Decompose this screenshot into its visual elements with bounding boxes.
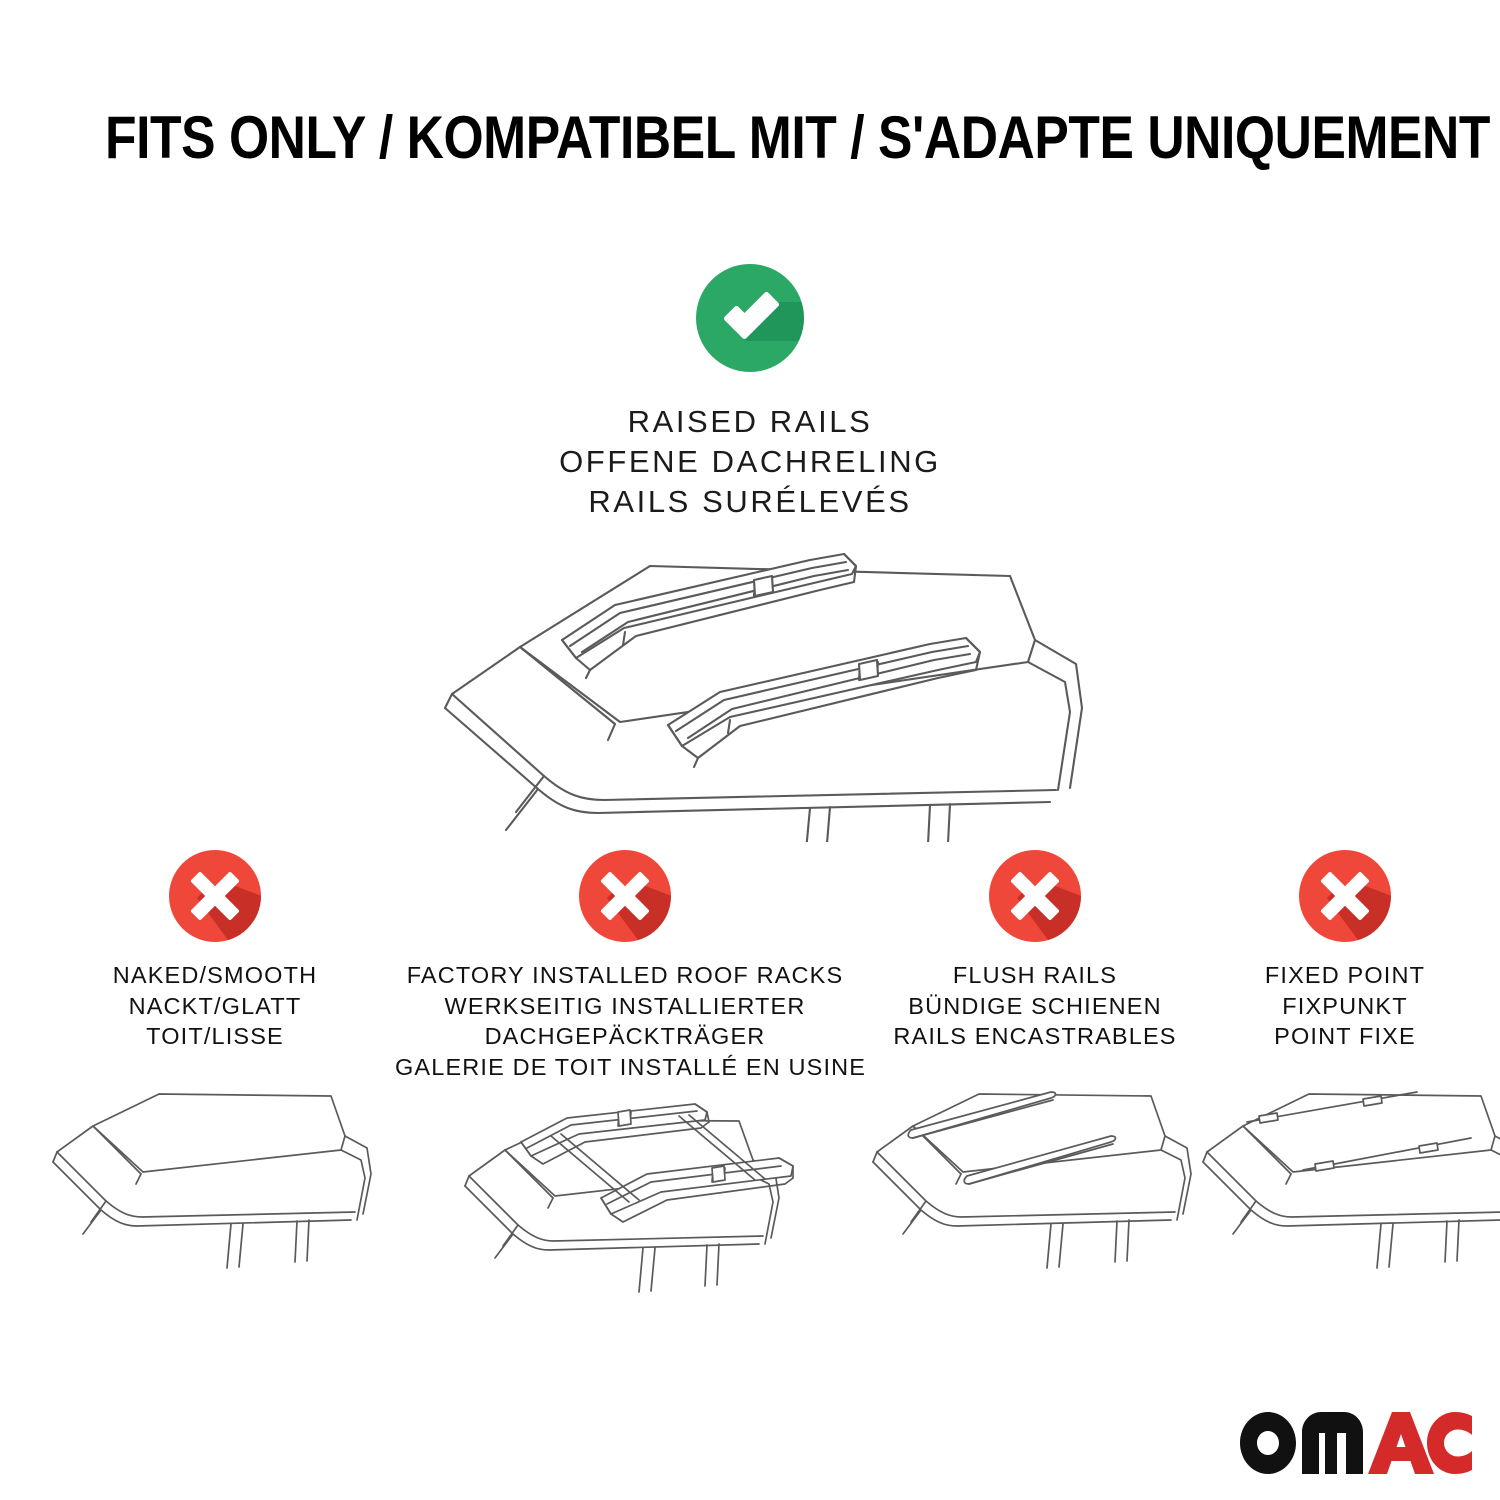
label-de1-2: WERKSEITIG INSTALLIERTER xyxy=(395,991,855,1022)
cross-circle-icon-holder-3 xyxy=(987,848,1083,944)
label-de-1: NACKT/GLATT xyxy=(35,991,395,1022)
label-fr-3: RAILS ENCASTRABLES xyxy=(855,1021,1215,1052)
check-circle-icon-holder xyxy=(694,262,806,374)
car-roof-fixed-point-illustration xyxy=(1185,1068,1500,1278)
logo-letter-m xyxy=(1302,1412,1363,1474)
label-fr-4: POINT FIXE xyxy=(1215,1021,1475,1052)
cross-circle-icon xyxy=(167,848,263,944)
column-labels-2: FACTORY INSTALLED ROOF RACKS WERKSEITIG … xyxy=(395,960,855,1082)
incompatible-column-fixed-point: FIXED POINT FIXPUNKT POINT FIXE xyxy=(1215,848,1475,1283)
label-en-3: FLUSH RAILS xyxy=(855,960,1215,991)
cross-circle-icon-holder-1 xyxy=(167,848,263,944)
car-roof-naked-smooth-illustration xyxy=(35,1068,395,1278)
incompatible-column-naked-smooth: NAKED/SMOOTH NACKT/GLATT TOIT/LISSE xyxy=(35,848,395,1283)
car-roof-flush-rails-illustration xyxy=(855,1068,1215,1278)
label-de2-2: DACHGEPÄCKTRÄGER xyxy=(395,1021,855,1052)
logo-letter-c xyxy=(1427,1412,1472,1474)
compatible-labels: RAISED RAILS OFFENE DACHRELING RAILS SUR… xyxy=(0,402,1500,522)
compatible-section: RAISED RAILS OFFENE DACHRELING RAILS SUR… xyxy=(0,262,1500,522)
column-labels-1: NAKED/SMOOTH NACKT/GLATT TOIT/LISSE xyxy=(35,960,395,1052)
fitment-guide-page: FITS ONLY / KOMPATIBEL MIT / S'ADAPTE UN… xyxy=(0,0,1500,1500)
omac-logo xyxy=(1240,1412,1472,1474)
label-en-1: NAKED/SMOOTH xyxy=(35,960,395,991)
page-title: FITS ONLY / KOMPATIBEL MIT / S'ADAPTE UN… xyxy=(105,108,1395,168)
cross-circle-icon xyxy=(577,848,673,944)
cross-circle-icon-holder-4 xyxy=(1297,848,1393,944)
logo-letter-a xyxy=(1368,1412,1434,1474)
cross-circle-icon xyxy=(1297,848,1393,944)
cross-circle-icon xyxy=(987,848,1083,944)
check-circle-icon xyxy=(694,262,806,374)
label-en-2: FACTORY INSTALLED ROOF RACKS xyxy=(395,960,855,991)
label-fr-1: TOIT/LISSE xyxy=(35,1021,395,1052)
compatible-label-de: OFFENE DACHRELING xyxy=(0,442,1500,482)
car-roof-raised-rails-illustration xyxy=(410,512,1090,842)
compatible-label-en: RAISED RAILS xyxy=(0,402,1500,442)
column-labels-4: FIXED POINT FIXPUNKT POINT FIXE xyxy=(1215,960,1475,1052)
car-roof-factory-racks-illustration xyxy=(395,1098,855,1308)
label-fr-2: GALERIE DE TOIT INSTALLÉ EN USINE xyxy=(395,1052,855,1083)
label-de-3: BÜNDIGE SCHIENEN xyxy=(855,991,1215,1022)
label-en-4: FIXED POINT xyxy=(1215,960,1475,991)
label-de-4: FIXPUNKT xyxy=(1215,991,1475,1022)
logo-letter-o xyxy=(1240,1412,1296,1474)
cross-circle-icon-holder-2 xyxy=(577,848,673,944)
column-labels-3: FLUSH RAILS BÜNDIGE SCHIENEN RAILS ENCAS… xyxy=(855,960,1215,1052)
incompatible-column-flush-rails: FLUSH RAILS BÜNDIGE SCHIENEN RAILS ENCAS… xyxy=(855,848,1215,1283)
incompatible-column-factory-racks: FACTORY INSTALLED ROOF RACKS WERKSEITIG … xyxy=(395,848,855,1313)
